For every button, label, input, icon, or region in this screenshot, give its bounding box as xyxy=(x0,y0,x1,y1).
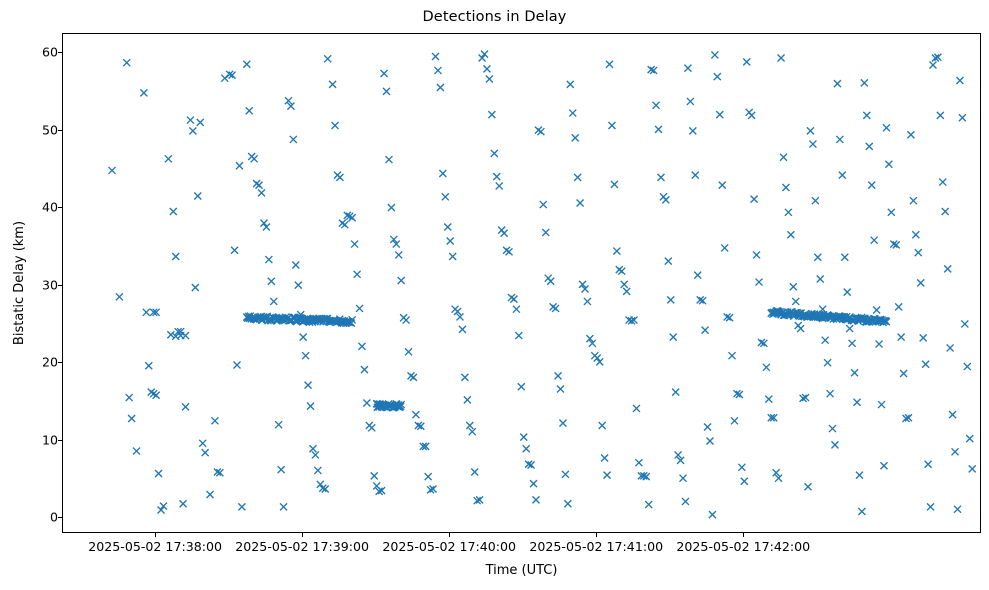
scatter-point xyxy=(883,124,890,131)
scatter-point xyxy=(792,298,799,305)
scatter-point xyxy=(410,374,417,381)
scatter-point xyxy=(447,237,454,244)
scatter-point xyxy=(702,327,709,334)
scatter-point xyxy=(927,503,934,510)
scatter-point xyxy=(187,117,194,124)
scatter-point xyxy=(160,503,167,510)
scatter-point xyxy=(537,128,544,135)
scatter-point xyxy=(385,156,392,163)
scatter-point xyxy=(314,467,321,474)
scatter-point xyxy=(332,122,339,129)
scatter-point xyxy=(170,208,177,215)
scatter-point xyxy=(778,55,785,62)
scatter-point xyxy=(895,303,902,310)
scatter-point xyxy=(486,75,493,82)
scatter-point xyxy=(780,154,787,161)
scatter-point xyxy=(969,465,976,472)
scatter-series xyxy=(63,34,981,533)
scatter-point xyxy=(356,305,363,312)
scatter-point xyxy=(192,284,199,291)
scatter-point xyxy=(557,386,564,393)
scatter-point xyxy=(751,196,758,203)
scatter-point xyxy=(755,279,762,286)
scatter-point xyxy=(312,451,319,458)
scatter-point xyxy=(956,77,963,84)
scatter-point xyxy=(336,174,343,181)
scatter-point xyxy=(341,221,348,228)
scatter-point xyxy=(851,369,858,376)
scatter-point xyxy=(523,445,530,452)
scatter-point xyxy=(711,51,718,58)
scatter-point xyxy=(425,473,432,480)
scatter-point xyxy=(442,193,449,200)
scatter-point xyxy=(158,506,165,513)
scatter-point xyxy=(233,362,240,369)
scatter-point xyxy=(295,282,302,289)
scatter-point xyxy=(140,89,147,96)
scatter-point xyxy=(954,506,961,513)
scatter-point xyxy=(917,279,924,286)
scatter-point xyxy=(952,448,959,455)
scatter-point xyxy=(829,425,836,432)
scatter-point xyxy=(876,341,883,348)
scatter-point xyxy=(922,361,929,368)
scatter-point xyxy=(753,251,760,258)
scatter-point xyxy=(623,288,630,295)
scatter-point xyxy=(493,173,500,180)
scatter-point xyxy=(246,107,253,114)
scatter-point xyxy=(263,224,270,231)
scatter-point xyxy=(822,337,829,344)
scatter-point xyxy=(827,390,834,397)
scatter-point xyxy=(880,462,887,469)
scatter-point xyxy=(564,500,571,507)
scatter-point xyxy=(748,112,755,119)
scatter-point xyxy=(714,73,721,80)
scatter-point xyxy=(459,326,466,333)
scatter-point xyxy=(680,475,687,482)
scatter-point xyxy=(354,271,361,278)
scatter-point xyxy=(280,503,287,510)
scatter-point xyxy=(856,472,863,479)
scatter-point xyxy=(256,182,263,189)
scatter-point xyxy=(165,155,172,162)
scatter-point xyxy=(324,55,331,62)
page-title: Detections in Delay xyxy=(0,9,989,25)
scatter-point xyxy=(633,405,640,412)
scatter-point xyxy=(540,201,547,208)
scatter-point xyxy=(231,247,238,254)
scatter-point xyxy=(307,403,314,410)
scatter-point xyxy=(912,231,919,238)
scatter-point xyxy=(866,143,873,150)
scatter-point xyxy=(721,244,728,251)
scatter-point xyxy=(405,348,412,355)
scatter-point xyxy=(738,464,745,471)
scatter-point xyxy=(126,394,133,401)
scatter-point xyxy=(824,359,831,366)
scatter-point xyxy=(520,434,527,441)
scatter-point xyxy=(265,256,272,263)
scatter-point xyxy=(797,325,804,332)
scatter-point xyxy=(562,471,569,478)
scatter-point xyxy=(731,417,738,424)
scatter-point xyxy=(547,278,554,285)
scatter-point xyxy=(143,309,150,316)
scatter-point xyxy=(584,298,591,305)
scatter-point xyxy=(692,172,699,179)
scatter-point xyxy=(657,174,664,181)
scatter-point xyxy=(885,161,892,168)
scatter-point xyxy=(939,179,946,186)
scatter-point xyxy=(309,445,316,452)
scatter-point xyxy=(888,209,895,216)
scatter-point xyxy=(559,420,566,427)
scatter-point xyxy=(398,277,405,284)
scatter-point xyxy=(873,306,880,313)
scatter-point xyxy=(684,65,691,72)
scatter-point xyxy=(243,61,250,68)
scatter-point xyxy=(109,167,116,174)
scatter-point xyxy=(461,374,468,381)
scatter-point xyxy=(180,500,187,507)
scatter-point xyxy=(479,55,486,62)
scatter-point xyxy=(552,305,559,312)
scatter-point xyxy=(787,231,794,238)
scatter-point xyxy=(488,111,495,118)
scatter-point xyxy=(596,358,603,365)
scatter-point xyxy=(155,470,162,477)
scatter-point xyxy=(542,229,549,236)
scatter-point xyxy=(704,424,711,431)
scatter-point xyxy=(351,241,358,248)
scatter-point xyxy=(238,503,245,510)
scatter-point xyxy=(432,53,439,60)
scatter-point xyxy=(510,296,517,303)
scatter-point xyxy=(947,344,954,351)
scatter-point xyxy=(689,127,696,134)
scatter-point xyxy=(329,81,336,88)
scatter-point xyxy=(292,262,299,269)
scatter-point xyxy=(199,440,206,447)
scatter-point xyxy=(577,199,584,206)
scatter-point xyxy=(518,383,525,390)
figure-canvas: Detections in Delay Bistatic Delay (km) … xyxy=(0,0,989,590)
scatter-point xyxy=(858,508,865,515)
scatter-point xyxy=(655,126,662,133)
scatter-point xyxy=(501,230,508,237)
y-axis-tick-labels: 0102030405060 xyxy=(6,33,58,533)
scatter-point xyxy=(207,491,214,498)
scatter-point xyxy=(743,58,750,65)
scatter-point xyxy=(251,155,258,162)
scatter-point xyxy=(959,114,966,121)
scatter-point xyxy=(221,75,228,82)
scatter-point xyxy=(608,122,615,129)
scatter-point xyxy=(300,334,307,341)
scatter-point xyxy=(790,283,797,290)
scatter-point xyxy=(133,448,140,455)
scatter-point xyxy=(381,70,388,77)
scatter-point xyxy=(599,422,606,429)
scatter-point xyxy=(513,306,520,313)
scatter-point xyxy=(358,343,365,350)
scatter-point xyxy=(861,79,868,86)
scatter-point xyxy=(942,208,949,215)
scatter-point xyxy=(964,363,971,370)
scatter-point xyxy=(202,449,209,456)
scatter-point xyxy=(898,334,905,341)
scatter-point xyxy=(275,421,282,428)
scatter-point xyxy=(145,362,152,369)
scatter-point xyxy=(834,80,841,87)
scatter-point xyxy=(900,370,907,377)
scatter-point xyxy=(871,237,878,244)
scatter-point xyxy=(949,411,956,418)
scatter-point xyxy=(682,498,689,505)
y-tick-label: 50 xyxy=(14,122,58,137)
scatter-point xyxy=(849,340,856,347)
scatter-point xyxy=(182,403,189,410)
scatter-point xyxy=(305,382,312,389)
scatter-point xyxy=(278,466,285,473)
y-tick-label: 40 xyxy=(14,200,58,215)
scatter-point xyxy=(290,136,297,143)
scatter-point xyxy=(868,182,875,189)
scatter-point xyxy=(635,459,642,466)
scatter-point xyxy=(412,411,419,418)
x-tick-label: 2025-05-02 17:42:00 xyxy=(643,539,843,554)
scatter-point xyxy=(925,461,932,468)
y-tick-label: 30 xyxy=(14,277,58,292)
scatter-point xyxy=(444,224,451,231)
scatter-point xyxy=(841,254,848,261)
scatter-point xyxy=(785,209,792,216)
scatter-point xyxy=(363,399,370,406)
scatter-point xyxy=(483,65,490,72)
scatter-point xyxy=(466,422,473,429)
scatter-point xyxy=(920,334,927,341)
scatter-point xyxy=(371,472,378,479)
scatter-point xyxy=(532,496,539,503)
scatter-point xyxy=(694,272,701,279)
x-axis-tick-labels: 2025-05-02 17:38:002025-05-02 17:39:0020… xyxy=(62,533,981,563)
scatter-point xyxy=(182,332,189,339)
scatter-point xyxy=(854,399,861,406)
scatter-point xyxy=(172,253,179,260)
scatter-point xyxy=(944,265,951,272)
scatter-point xyxy=(618,268,625,275)
scatter-point xyxy=(611,181,618,188)
scatter-point xyxy=(812,197,819,204)
scatter-point xyxy=(567,81,574,88)
scatter-point xyxy=(116,293,123,300)
scatter-point xyxy=(270,298,277,305)
scatter-point xyxy=(481,51,488,58)
scatter-point xyxy=(878,401,885,408)
scatter-point xyxy=(403,317,410,324)
scatter-point xyxy=(383,88,390,95)
scatter-point xyxy=(594,355,601,362)
scatter-point xyxy=(572,134,579,141)
scatter-point xyxy=(515,332,522,339)
scatter-point xyxy=(449,253,456,260)
scatter-point xyxy=(805,483,812,490)
plot-area xyxy=(62,33,981,533)
x-axis-label: Time (UTC) xyxy=(62,563,981,578)
scatter-point xyxy=(716,111,723,118)
scatter-point xyxy=(706,437,713,444)
scatter-point xyxy=(621,281,628,288)
scatter-point xyxy=(662,196,669,203)
scatter-point xyxy=(302,352,309,359)
scatter-point xyxy=(907,131,914,138)
scatter-point xyxy=(260,220,267,227)
scatter-point xyxy=(863,112,870,119)
y-tick-label: 60 xyxy=(14,45,58,60)
scatter-point xyxy=(258,189,265,196)
scatter-point xyxy=(687,98,694,105)
scatter-point xyxy=(506,248,513,255)
scatter-point xyxy=(197,119,204,126)
scatter-point xyxy=(606,61,613,68)
scatter-point xyxy=(368,424,375,431)
scatter-point xyxy=(361,366,368,373)
scatter-point xyxy=(670,334,677,341)
scatter-point xyxy=(530,480,537,487)
scatter-point xyxy=(613,248,620,255)
scatter-point xyxy=(236,162,243,169)
scatter-point xyxy=(836,136,843,143)
scatter-point xyxy=(937,112,944,119)
y-tick-label: 20 xyxy=(14,355,58,370)
scatter-point xyxy=(846,325,853,332)
scatter-point xyxy=(665,258,672,265)
scatter-point xyxy=(395,251,402,258)
scatter-point xyxy=(604,472,611,479)
scatter-point xyxy=(471,468,478,475)
scatter-point xyxy=(189,127,196,134)
scatter-point xyxy=(437,84,444,91)
scatter-point xyxy=(601,455,608,462)
scatter-point xyxy=(814,254,821,261)
scatter-point xyxy=(929,62,936,69)
scatter-point xyxy=(839,172,846,179)
y-tick-label: 10 xyxy=(14,432,58,447)
scatter-point xyxy=(569,110,576,117)
scatter-point xyxy=(464,396,471,403)
scatter-point xyxy=(388,204,395,211)
scatter-point xyxy=(439,170,446,177)
scatter-point xyxy=(194,193,201,200)
scatter-point xyxy=(915,249,922,256)
scatter-point xyxy=(469,428,476,435)
scatter-point xyxy=(128,415,135,422)
scatter-point xyxy=(729,352,736,359)
y-tick-label: 0 xyxy=(14,510,58,525)
scatter-point xyxy=(574,174,581,181)
scatter-point xyxy=(555,372,562,379)
scatter-point xyxy=(765,396,772,403)
scatter-point xyxy=(434,67,441,74)
scatter-point xyxy=(709,511,716,518)
scatter-point xyxy=(741,478,748,485)
scatter-point xyxy=(667,296,674,303)
scatter-point xyxy=(496,182,503,189)
scatter-point xyxy=(831,441,838,448)
scatter-point xyxy=(817,275,824,282)
scatter-point xyxy=(268,278,275,285)
scatter-point xyxy=(807,127,814,134)
scatter-point xyxy=(491,150,498,157)
scatter-point xyxy=(782,184,789,191)
scatter-point xyxy=(844,289,851,296)
scatter-point xyxy=(966,435,973,442)
scatter-point xyxy=(809,141,816,148)
scatter-point xyxy=(653,102,660,109)
scatter-point xyxy=(672,389,679,396)
scatter-point xyxy=(123,59,130,66)
scatter-point xyxy=(645,501,652,508)
scatter-point xyxy=(211,417,218,424)
scatter-point xyxy=(910,197,917,204)
scatter-point xyxy=(719,182,726,189)
scatter-point xyxy=(961,320,968,327)
scatter-point xyxy=(763,364,770,371)
